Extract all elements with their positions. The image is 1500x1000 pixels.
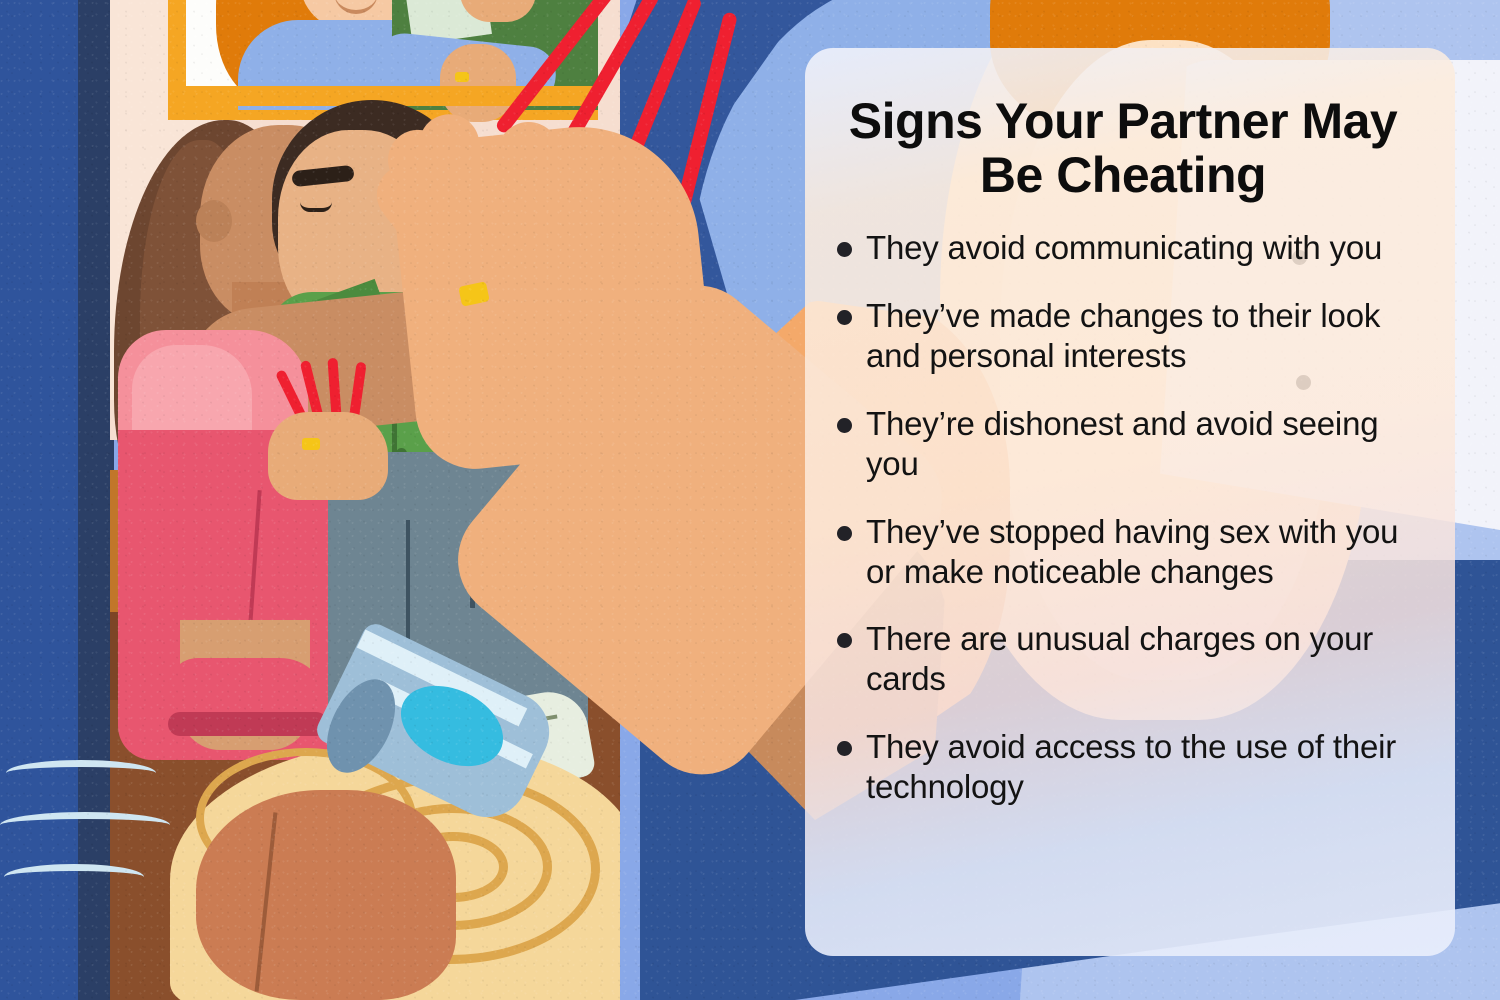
list-item-label: There are unusual charges on your cards bbox=[866, 619, 1415, 699]
spilled-liquid bbox=[196, 790, 456, 1000]
steam-wisp bbox=[4, 864, 144, 890]
woman-ear bbox=[196, 200, 232, 242]
door-edge-navy bbox=[78, 0, 114, 1000]
man-eye bbox=[300, 202, 332, 212]
infographic-canvas: Signs Your Partner May Be Cheating They … bbox=[0, 0, 1500, 1000]
list-item-label: They’ve made changes to their look and p… bbox=[866, 296, 1415, 376]
reaching-hand-palm bbox=[388, 115, 721, 475]
bullet-dot-icon bbox=[837, 741, 852, 756]
ring-icon bbox=[302, 438, 320, 450]
ring-icon bbox=[455, 72, 469, 82]
list-item-label: They’re dishonest and avoid seeing you bbox=[866, 404, 1415, 484]
woman-sandal-sole bbox=[168, 712, 328, 736]
steam-wisp bbox=[0, 812, 170, 838]
page-title: Signs Your Partner May Be Cheating bbox=[837, 94, 1409, 202]
wall-blue-stripe bbox=[0, 0, 80, 1000]
bullet-dot-icon bbox=[837, 242, 852, 257]
steam-wisp bbox=[6, 760, 156, 786]
bullet-dot-icon bbox=[837, 633, 852, 648]
framed-person-hand bbox=[440, 44, 516, 122]
list-item: They’re dishonest and avoid seeing you bbox=[831, 404, 1415, 484]
bullet-dot-icon bbox=[837, 526, 852, 541]
list-item: They avoid communicating with you bbox=[831, 228, 1415, 268]
list-item: There are unusual charges on your cards bbox=[831, 619, 1415, 699]
woman-hand bbox=[268, 412, 388, 500]
list-item-label: They avoid communicating with you bbox=[866, 228, 1382, 268]
list-item: They’ve stopped having sex with you or m… bbox=[831, 512, 1415, 592]
text-card: Signs Your Partner May Be Cheating They … bbox=[805, 48, 1455, 956]
list-item-label: They’ve stopped having sex with you or m… bbox=[866, 512, 1415, 592]
bullet-dot-icon bbox=[837, 310, 852, 325]
list-item: They’ve made changes to their look and p… bbox=[831, 296, 1415, 376]
list-item-label: They avoid access to the use of their te… bbox=[866, 727, 1415, 807]
bullet-dot-icon bbox=[837, 418, 852, 433]
signs-list: They avoid communicating with you They’v… bbox=[831, 228, 1415, 807]
list-item: They avoid access to the use of their te… bbox=[831, 727, 1415, 807]
